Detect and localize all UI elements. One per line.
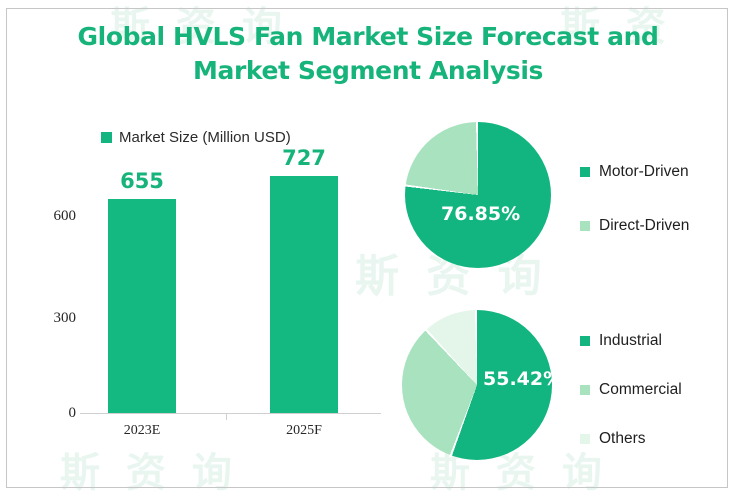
legend-item-direct-driven[interactable]: Direct-Driven [580,217,689,235]
x-axis-tick [226,413,227,420]
bar-chart-plot: 655 2023E 727 2025F [80,110,383,455]
legend-item-motor-driven[interactable]: Motor-Driven [580,163,689,181]
bar-chart: Market Size (Million USD) 600 300 0 655 … [8,110,383,455]
legend-item-industrial[interactable]: Industrial [580,332,682,350]
x-axis-line [80,413,381,414]
page-title: Global HVLS Fan Market Size Forecast and… [30,20,706,88]
legend-label-commercial: Commercial [599,381,682,399]
chart-figure: 斯 资 询 斯 资 斯 资 询 斯 资 询 斯 资 询 Global HVLS … [0,0,735,496]
legend-label-industrial: Industrial [599,332,662,350]
legend-label-others: Others [599,430,646,448]
pie-top-value-label: 76.85% [441,203,520,225]
pie-bottom-value-label: 55.42% [483,368,562,390]
bar-chart-y-axis: 600 300 0 [8,110,76,455]
legend-swatch-motor-driven [580,167,590,177]
pie-bottom-legend: Industrial Commercial Others [580,332,682,448]
bar-value-2025f: 727 [259,146,349,170]
bar-2023e[interactable] [108,199,176,413]
legend-item-commercial[interactable]: Commercial [580,381,682,399]
bar-2025f[interactable] [270,176,338,413]
legend-label-direct-driven: Direct-Driven [599,217,689,235]
legend-swatch-direct-driven [580,221,590,231]
y-tick-600: 600 [16,208,76,225]
bar-value-2023e: 655 [97,169,187,193]
legend-label-motor-driven: Motor-Driven [599,163,689,181]
legend-swatch-others [580,434,590,444]
y-tick-0: 0 [16,405,76,422]
x-label-2023e: 2023E [82,423,202,439]
pie-chart-type[interactable] [405,122,551,268]
legend-swatch-industrial [580,336,590,346]
x-label-2025f: 2025F [244,423,364,439]
y-tick-300: 300 [16,310,76,327]
legend-item-others[interactable]: Others [580,430,682,448]
pie-top-legend: Motor-Driven Direct-Driven [580,163,689,235]
legend-swatch-commercial [580,385,590,395]
